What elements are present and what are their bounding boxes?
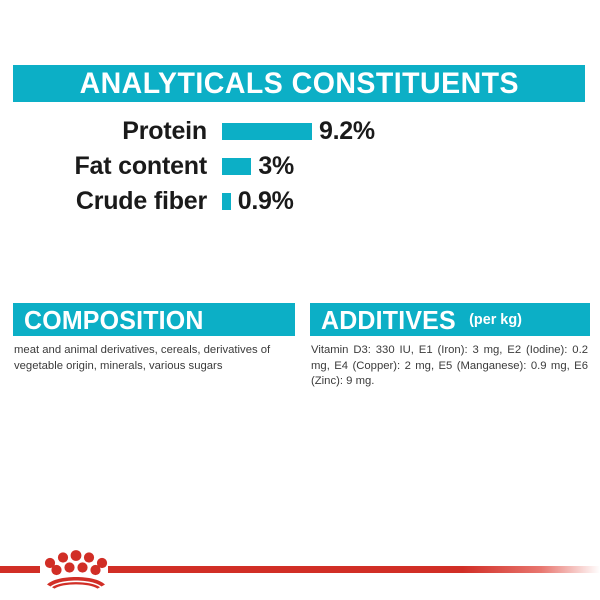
analytical-bar-fat-content [222, 158, 251, 175]
additives-heading-band: ADDITIVES (per kg) [310, 303, 590, 336]
analytical-bar-group-fat-content: 3% [222, 154, 294, 179]
analytical-value-crude-fiber: 0.9% [238, 189, 294, 214]
analytical-label-crude-fiber: Crude fiber [0, 189, 207, 214]
composition-body-text: meat and animal derivatives, cereals, de… [13, 343, 295, 374]
analytical-label-protein: Protein [0, 119, 207, 144]
composition-section: COMPOSITION meat and animal derivatives,… [13, 303, 295, 374]
brand-footer [0, 561, 600, 577]
analytical-value-protein: 9.2% [319, 119, 375, 144]
analyticals-heading-band: ANALYTICALS CONSTITUENTS [13, 65, 585, 102]
analyticals-chart: Protein 9.2% Fat content 3% Crude fiber … [0, 114, 600, 219]
footer-rule-right [108, 566, 600, 573]
analytical-bar-crude-fiber [222, 193, 231, 210]
analytical-bar-group-crude-fiber: 0.9% [222, 189, 294, 214]
analytical-bar-protein [222, 123, 312, 140]
analytical-row: Fat content 3% [0, 149, 600, 184]
royal-canin-crown-icon [43, 543, 109, 589]
composition-heading-band: COMPOSITION [13, 303, 295, 336]
analytical-row: Crude fiber 0.9% [0, 184, 600, 219]
analytical-bar-group-protein: 9.2% [222, 119, 375, 144]
analytical-label-fat-content: Fat content [0, 154, 207, 179]
composition-heading-text: COMPOSITION [24, 307, 204, 333]
analytical-row: Protein 9.2% [0, 114, 600, 149]
nutrition-panel: ANALYTICALS CONSTITUENTS Protein 9.2% Fa… [0, 0, 600, 600]
additives-heading-unit: (per kg) [470, 312, 523, 327]
additives-heading-text: ADDITIVES [321, 307, 456, 333]
analyticals-heading-text: ANALYTICALS CONSTITUENTS [79, 69, 518, 99]
additives-section: ADDITIVES (per kg) Vitamin D3: 330 IU, E… [310, 303, 590, 390]
analytical-value-fat-content: 3% [258, 154, 294, 179]
footer-rule-left [0, 566, 40, 573]
additives-body-text: Vitamin D3: 330 IU, E1 (Iron): 3 mg, E2 … [310, 343, 590, 390]
